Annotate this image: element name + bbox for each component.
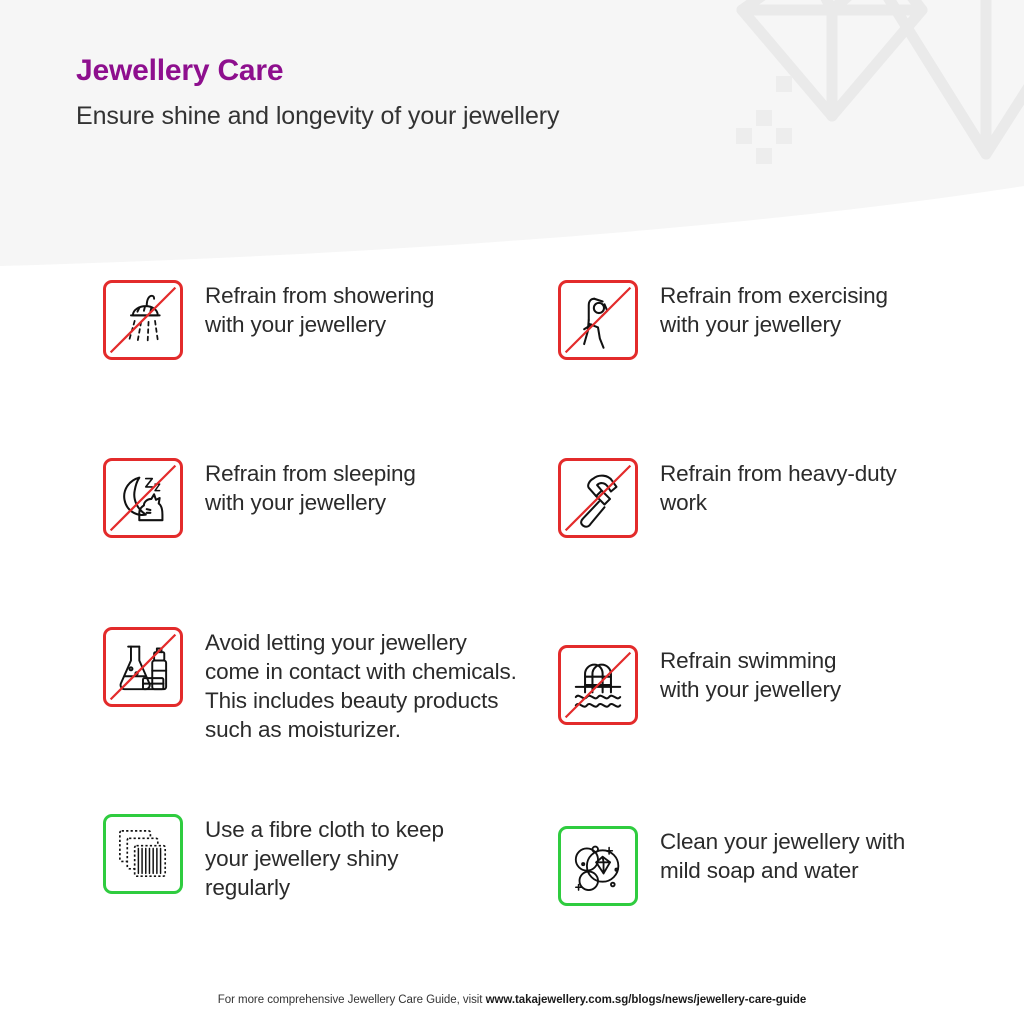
tip-item-swimming: Refrain swimming with your jewellery (558, 645, 988, 725)
tip-line: regularly (205, 873, 444, 902)
footer-prefix: For more comprehensive Jewellery Care Gu… (218, 994, 486, 1006)
sleeping-moon-cat-icon (103, 458, 183, 538)
tip-line: Refrain swimming (660, 646, 841, 675)
page-subtitle: Ensure shine and longevity of your jewel… (76, 100, 836, 132)
tip-line: Refrain from sleeping (205, 459, 416, 488)
tip-line: Use a fibre cloth to keep (205, 815, 444, 844)
tip-text-sleeping: Refrain from sleeping with your jeweller… (205, 458, 416, 517)
tip-line: This includes beauty products (205, 686, 517, 715)
tip-text-fibre-cloth: Use a fibre cloth to keep your jewellery… (205, 814, 444, 902)
tip-row-4: Use a fibre cloth to keep your jewellery… (0, 786, 1024, 926)
tip-row-1: Refrain from showering with your jewelle… (0, 268, 1024, 440)
header-band: Jewellery Care Ensure shine and longevit… (0, 0, 1024, 285)
tip-line: come in contact with chemicals. (205, 657, 517, 686)
tip-text-chemicals: Avoid letting your jewellery come in con… (205, 627, 517, 744)
tip-row-2: Refrain from sleeping with your jeweller… (0, 440, 1024, 610)
infographic-page: Jewellery Care Ensure shine and longevit… (0, 0, 1024, 1024)
tip-item-fibre-cloth: Use a fibre cloth to keep your jewellery… (103, 814, 533, 902)
tip-item-sleeping: Refrain from sleeping with your jeweller… (103, 458, 533, 538)
header-band-shape (0, 0, 1024, 285)
swimming-pool-icon (558, 645, 638, 725)
tip-line: Refrain from exercising (660, 281, 888, 310)
tip-line: with your jewellery (205, 488, 416, 517)
tip-text-heavy-duty: Refrain from heavy-duty work (660, 458, 897, 517)
tip-item-heavy-duty: Refrain from heavy-duty work (558, 458, 988, 538)
tip-line: such as moisturizer. (205, 715, 517, 744)
tip-text-exercising: Refrain from exercising with your jewell… (660, 280, 888, 339)
tip-line: with your jewellery (660, 675, 841, 704)
page-title: Jewellery Care (76, 52, 836, 90)
tip-line: Refrain from heavy-duty (660, 459, 897, 488)
chemical-flask-icon (103, 627, 183, 707)
fibre-cloth-icon (103, 814, 183, 894)
tips-grid: Refrain from showering with your jewelle… (0, 268, 1024, 926)
tip-item-soap-water: Clean your jewellery with mild soap and … (558, 826, 988, 906)
tip-item-chemicals: Avoid letting your jewellery come in con… (103, 627, 533, 744)
shower-icon (103, 280, 183, 360)
hammer-icon (558, 458, 638, 538)
tip-item-exercising: Refrain from exercising with your jewell… (558, 280, 988, 360)
tip-line: work (660, 488, 897, 517)
tip-text-soap-water: Clean your jewellery with mild soap and … (660, 826, 905, 885)
tip-line: mild soap and water (660, 856, 905, 885)
tip-line: with your jewellery (205, 310, 434, 339)
tip-line: Refrain from showering (205, 281, 434, 310)
tip-text-showering: Refrain from showering with your jewelle… (205, 280, 434, 339)
footer-link[interactable]: www.takajewellery.com.sg/blogs/news/jewe… (486, 994, 807, 1006)
gem-bubbles-soap-icon (558, 826, 638, 906)
tip-line: your jewellery shiny (205, 844, 444, 873)
tip-line: Avoid letting your jewellery (205, 628, 517, 657)
tip-line: with your jewellery (660, 310, 888, 339)
exercising-person-icon (558, 280, 638, 360)
tip-item-showering: Refrain from showering with your jewelle… (103, 280, 533, 360)
header-text-block: Jewellery Care Ensure shine and longevit… (76, 52, 836, 132)
tip-line: Clean your jewellery with (660, 827, 905, 856)
tip-text-swimming: Refrain swimming with your jewellery (660, 645, 841, 704)
tip-row-3: Avoid letting your jewellery come in con… (0, 610, 1024, 786)
footer: For more comprehensive Jewellery Care Gu… (0, 994, 1024, 1006)
